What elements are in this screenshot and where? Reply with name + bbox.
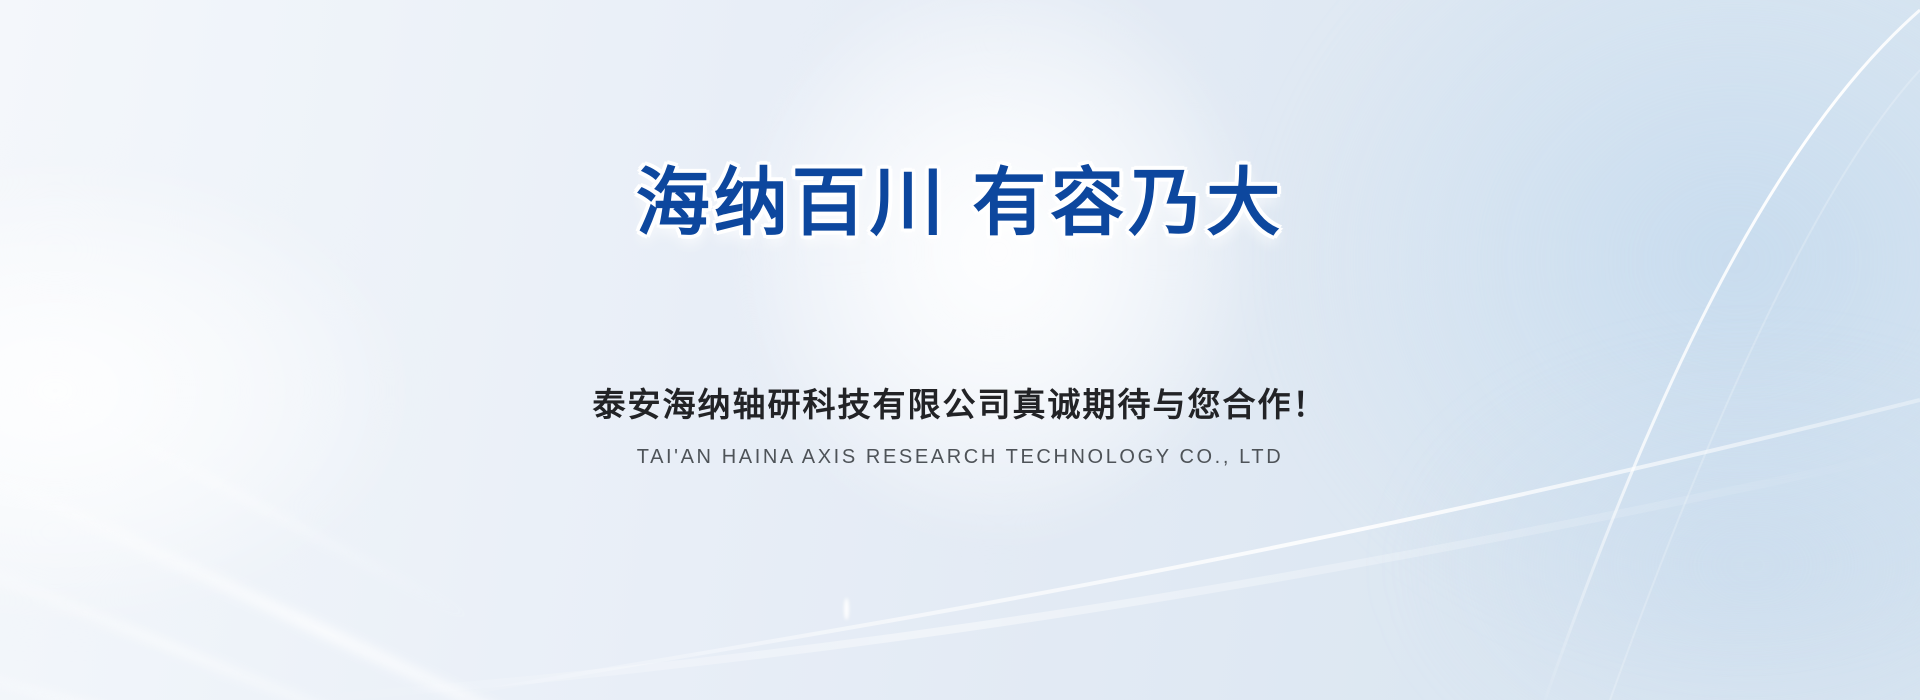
background-glow-center — [653, 0, 1344, 700]
arc-top-right-secondary — [1610, 70, 1920, 700]
arc-bottom-center — [430, 400, 1920, 700]
banner-headline: 海纳百川 有容乃大 — [0, 162, 1920, 245]
background-glow-left — [0, 56, 691, 700]
hero-banner: 海纳百川 有容乃大 泰安海纳轴研科技有限公司真诚期待与您合作！ TAI'AN H… — [0, 0, 1920, 700]
light-streak-1 — [0, 421, 862, 700]
arc-top-right — [1545, 10, 1920, 700]
arc-bottom-center-soft — [300, 450, 1920, 700]
banner-subtitle-english: TAI'AN HAINA AXIS RESEARCH TECHNOLOGY CO… — [0, 446, 1920, 469]
background-blue-tint-bottom-right — [1229, 336, 1920, 700]
banner-content: 海纳百川 有容乃大 泰安海纳轴研科技有限公司真诚期待与您合作！ TAI'AN H… — [0, 0, 1920, 700]
background-arc-lines — [0, 0, 1920, 700]
light-streak-2 — [0, 511, 560, 700]
light-streak-4 — [37, 385, 481, 626]
background-blue-tint-right — [1037, 0, 1920, 700]
light-fleck — [844, 598, 849, 620]
light-streak-3 — [0, 644, 514, 700]
banner-subtitle-chinese: 泰安海纳轴研科技有限公司真诚期待与您合作！ — [0, 378, 1920, 426]
